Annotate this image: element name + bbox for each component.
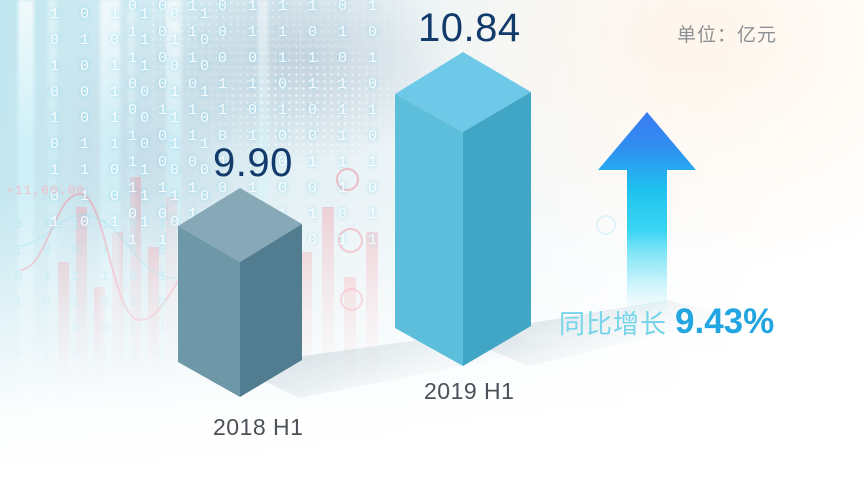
growth-label: 同比增长: [559, 304, 667, 341]
growth-annotation: 同比增长 9.43%: [559, 302, 774, 342]
growth-value: 9.43%: [675, 302, 774, 342]
bar-2019[interactable]: [393, 52, 535, 370]
value-label-2018: 9.90: [213, 141, 293, 186]
category-label-2019: 2019 H1: [424, 378, 514, 405]
category-label-2018: 2018 H1: [213, 414, 303, 441]
value-label-2019: 10.84: [418, 6, 521, 51]
up-arrow-icon: [598, 112, 696, 317]
bar-2018[interactable]: [178, 188, 308, 404]
binary-overlay-number: +11,00.00: [6, 178, 85, 204]
binary-column-3: 0 1 1 1 0 1 1 0 0 1 1 0 0 1 1 1 0 1 1 0 …: [14, 212, 172, 368]
unit-label: 单位：亿元: [677, 20, 777, 47]
bar-2019-left-face: [395, 94, 463, 366]
infographic-canvas: 1 0 1 1 0 1 0 1 0 1 1 0 1 0 1 1 0 0 0 0 …: [0, 0, 865, 487]
bar-2019-right-face: [463, 92, 531, 366]
